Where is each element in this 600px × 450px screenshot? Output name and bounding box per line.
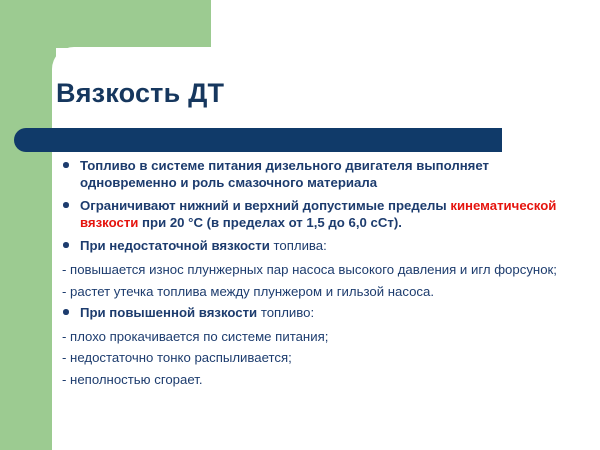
bullet-dot-icon xyxy=(63,309,69,315)
bullet-list-item: При повышенной вязкости топливо: xyxy=(0,305,600,322)
bullet-list-item: При недостаточной вязкости топлива: xyxy=(0,238,600,255)
dash-list-item: - недостаточно тонко распыливается; xyxy=(0,350,600,367)
text-segment: - плохо прокачивается по системе питания… xyxy=(62,329,328,344)
page-title: Вязкость ДТ xyxy=(56,79,516,109)
text-segment: топлива: xyxy=(270,238,327,253)
text-segment: - неполностью сгорает. xyxy=(62,372,202,387)
text-segment: Ограничивают нижний и верхний допустимые… xyxy=(80,198,450,213)
title-underline-bar xyxy=(14,128,502,152)
bullet-list-item: Топливо в системе питания дизельного дви… xyxy=(0,158,600,191)
bullet-dot-icon xyxy=(63,242,69,248)
dash-list-item: - повышается износ плунжерных пар насоса… xyxy=(0,262,600,279)
text-segment: - повышается износ плунжерных пар насоса… xyxy=(62,262,557,277)
slide: Вязкость ДТ Топливо в системе питания ди… xyxy=(0,0,600,450)
text-segment: - недостаточно тонко распыливается; xyxy=(62,350,292,365)
dash-list-item: - неполностью сгорает. xyxy=(0,372,600,389)
text-segment: При недостаточной вязкости xyxy=(80,238,270,253)
line-spacer xyxy=(0,391,600,394)
text-segment: При повышенной вязкости xyxy=(80,305,257,320)
bullet-dot-icon xyxy=(63,202,69,208)
text-segment: топливо: xyxy=(257,305,314,320)
dash-list-item: - плохо прокачивается по системе питания… xyxy=(0,329,600,346)
text-segment: - растет утечка топлива между плунжером … xyxy=(62,284,434,299)
bullet-list-item: Ограничивают нижний и верхний допустимые… xyxy=(0,198,600,231)
text-segment: Топливо в системе питания дизельного дви… xyxy=(80,158,489,190)
bullet-dot-icon xyxy=(63,162,69,168)
body-content: Топливо в системе питания дизельного дви… xyxy=(0,158,600,394)
text-segment: при 20 °C (в пределах от 1,5 до 6,0 сСт)… xyxy=(138,215,402,230)
dash-list-item: - растет утечка топлива между плунжером … xyxy=(0,284,600,301)
